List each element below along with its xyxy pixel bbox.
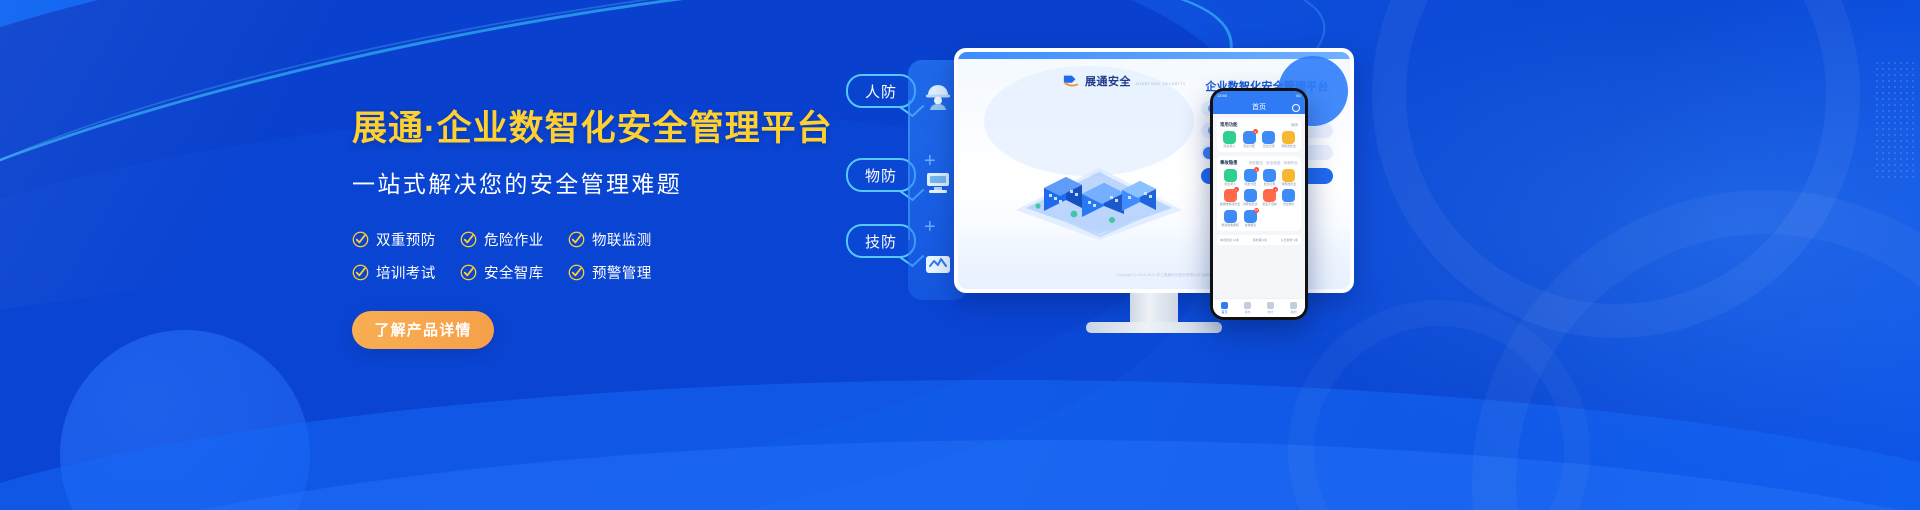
- grid-item-label: 隐患分配: [1245, 183, 1257, 186]
- check-circle-icon: [460, 231, 477, 248]
- section-title: 常用功能: [1220, 122, 1238, 128]
- stat-item: 今日新增 1条: [1280, 238, 1298, 242]
- banner-headline: 展通·企业数智化安全管理平台: [352, 108, 822, 151]
- grid-item-label: 隐患分配: [1243, 145, 1255, 148]
- badge-count: 2: [1234, 187, 1239, 192]
- tab-label: 首页: [1221, 310, 1227, 314]
- assign-icon: 3: [1244, 169, 1257, 182]
- feature-item: 预警管理: [568, 256, 676, 289]
- warning-icon: [1282, 131, 1295, 144]
- grid-item-label: 复查不合格: [1262, 203, 1276, 206]
- tab-todo[interactable]: 待办: [1236, 299, 1259, 317]
- grid-item[interactable]: 隐患录入: [1220, 131, 1239, 148]
- status-signal: 4G: [1296, 93, 1301, 98]
- phone-stat-bar: 本月隐患 12条 待处理 3条 今日新增 1条: [1217, 235, 1301, 245]
- grid-item[interactable]: 隐患记录: [1260, 131, 1279, 148]
- check-circle-icon: [568, 264, 585, 281]
- feature-label: 危险作业: [484, 229, 544, 250]
- worker-helmet-icon: [922, 78, 954, 110]
- grid-item[interactable]: 隐患录入: [1220, 169, 1240, 186]
- check-circle-icon: [568, 231, 585, 248]
- badge-wufang[interactable]: 物防: [846, 158, 916, 192]
- section-title: 事故隐患: [1220, 160, 1238, 166]
- phone-tabbar: 首页 待办 统计 我的: [1213, 298, 1305, 317]
- stat-item: 本月隐患 12条: [1220, 238, 1239, 242]
- feature-label: 安全智库: [484, 262, 544, 283]
- grid-item-label: 隐患记录: [1264, 183, 1276, 186]
- section-header: 常用功能 编辑: [1220, 122, 1298, 128]
- badge-renfang[interactable]: 人防: [846, 74, 916, 108]
- product-logo: 展通安全 ZHANTONG SECURITY: [1062, 72, 1186, 90]
- badge-label: 技防: [865, 231, 897, 252]
- check-circle-icon: [352, 231, 369, 248]
- phone-screen: 13:50 4G 首页 常用功能 编辑 隐患录入: [1213, 91, 1305, 317]
- badge-count: 3: [1253, 129, 1258, 134]
- grid-item-label: 隐患录入: [1224, 145, 1236, 148]
- edit-icon: [1224, 169, 1237, 182]
- grid-item-label: 台账报表: [1245, 224, 1257, 227]
- overdue-icon: 2: [1224, 189, 1237, 202]
- feature-item: 危险作业: [460, 223, 568, 256]
- chart-icon: [1267, 302, 1274, 309]
- product-visual: 人防 物防 技防 + +: [840, 0, 1920, 510]
- recheck-icon: 4: [1263, 189, 1276, 202]
- grid-item[interactable]: 3 隐患分配: [1240, 131, 1259, 148]
- tab-profile[interactable]: 我的: [1282, 299, 1305, 317]
- stats-icon: [1282, 189, 1295, 202]
- equipment-icon: [922, 166, 954, 198]
- grid-item[interactable]: 待整改隐患: [1280, 169, 1298, 186]
- feature-label: 预警管理: [592, 262, 652, 283]
- feature-item: 培训考试: [352, 256, 460, 289]
- edit-icon: [1223, 131, 1236, 144]
- logo-mark-icon: [1062, 73, 1080, 89]
- status-time: 13:50: [1217, 93, 1227, 98]
- badge-label: 人防: [865, 81, 897, 102]
- grid-item-label: 待整改隐患: [1243, 203, 1257, 206]
- tab-label: 待办: [1244, 310, 1250, 314]
- monitor-base: [1086, 322, 1222, 333]
- gear-icon[interactable]: [1292, 104, 1300, 112]
- grid-item[interactable]: 4 复查不合格: [1260, 189, 1278, 206]
- grid-item[interactable]: 待整改隐患: [1279, 131, 1298, 148]
- logo-text: 展通安全: [1085, 76, 1131, 88]
- tab-stats[interactable]: 统计: [1259, 299, 1282, 317]
- warning-icon: [1282, 169, 1295, 182]
- phone-section-card: 事故隐患 风险管控 · 安全检查 · 特种作业 隐患录入 3 隐患分配: [1217, 156, 1301, 231]
- section-meta[interactable]: 编辑: [1291, 123, 1298, 128]
- grid-item[interactable]: 隐患记录: [1260, 169, 1278, 186]
- logo-subtext: ZHANTONG SECURITY: [1135, 82, 1186, 86]
- feature-item: 双重预防: [352, 223, 460, 256]
- screen-topbar: [958, 52, 1350, 59]
- check-circle-icon: [460, 264, 477, 281]
- todo-icon: [1244, 302, 1251, 309]
- notice-icon: [1224, 210, 1237, 223]
- badge-jifang[interactable]: 技防: [846, 224, 916, 258]
- mobile-phone-mockup: 13:50 4G 首页 常用功能 编辑 隐患录入: [1210, 88, 1308, 320]
- feature-label: 双重预防: [376, 229, 436, 250]
- record-icon: [1263, 169, 1276, 182]
- phone-header: 首页: [1213, 100, 1305, 114]
- rectify-icon: [1244, 189, 1257, 202]
- grid-item[interactable]: 3 隐患分配: [1241, 169, 1259, 186]
- grid-item[interactable]: 2 超期未整改隐患: [1220, 189, 1240, 206]
- section-meta: 风险管控 · 安全检查 · 特种作业: [1248, 161, 1298, 166]
- section-header: 事故隐患 风险管控 · 安全检查 · 特种作业: [1220, 160, 1298, 166]
- stat-item: 待处理 3条: [1253, 238, 1268, 242]
- badge-count: 3: [1254, 167, 1259, 172]
- feature-item: 物联监测: [568, 223, 676, 256]
- grid-item-label: 隐患记录: [1263, 145, 1275, 148]
- dotted-pattern: [1874, 60, 1914, 180]
- report-icon: 10: [1244, 210, 1257, 223]
- phone-header-title: 首页: [1252, 102, 1266, 112]
- grid-item-label: 隐患录入: [1224, 183, 1236, 186]
- promo-banner: 展通·企业数智化安全管理平台 一站式解决您的安全管理难题 双重预防 危险作业 物…: [0, 0, 1920, 510]
- banner-subheadline: 一站式解决您的安全管理难题: [352, 165, 822, 199]
- logo-text-block: 展通安全 ZHANTONG SECURITY: [1085, 72, 1186, 90]
- grid-item[interactable]: 整改验收通知: [1220, 210, 1240, 227]
- grid-item[interactable]: 待整改隐患: [1241, 189, 1259, 206]
- grid-item[interactable]: 隐患统计: [1280, 189, 1298, 206]
- tab-label: 我的: [1290, 310, 1296, 314]
- grid-item-label: 待整改隐患: [1281, 145, 1295, 148]
- grid-item-label: 超期未整改隐患: [1220, 203, 1240, 206]
- feature-label: 物联监测: [592, 229, 652, 250]
- learn-more-button[interactable]: 了解产品详情: [352, 311, 494, 349]
- feature-list: 双重预防 危险作业 物联监测 培训考试 安全智库 预警管理: [352, 223, 822, 289]
- monitor-neck: [1130, 293, 1178, 325]
- record-icon: [1262, 131, 1275, 144]
- icon-grid: 隐患录入 3 隐患分配 隐患记录: [1220, 131, 1298, 148]
- badge-count: 10: [1254, 208, 1259, 213]
- phone-status-bar: 13:50 4G: [1213, 91, 1305, 100]
- icon-grid: 隐患录入 3 隐患分配 隐患记录: [1220, 169, 1298, 227]
- badge-count: 4: [1273, 187, 1278, 192]
- badge-label: 物防: [865, 165, 897, 186]
- check-circle-icon: [352, 264, 369, 281]
- person-icon: [1290, 302, 1297, 309]
- assign-icon: 3: [1243, 131, 1256, 144]
- grid-item-label: 隐患统计: [1283, 203, 1295, 206]
- feature-item: 安全智库: [460, 256, 568, 289]
- grid-item-label: 整改验收通知: [1221, 224, 1238, 227]
- phone-section-card: 常用功能 编辑 隐患录入 3 隐患分配: [1217, 118, 1301, 152]
- banner-copy: 展通·企业数智化安全管理平台 一站式解决您的安全管理难题 双重预防 危险作业 物…: [352, 108, 822, 349]
- feature-label: 培训考试: [376, 262, 436, 283]
- grid-item-label: 待整改隐患: [1282, 183, 1296, 186]
- tab-label: 统计: [1267, 310, 1273, 314]
- home-icon: [1221, 302, 1228, 309]
- monitoring-chart-icon: [922, 248, 954, 280]
- grid-item[interactable]: 10 台账报表: [1241, 210, 1259, 227]
- tab-home[interactable]: 首页: [1213, 299, 1236, 317]
